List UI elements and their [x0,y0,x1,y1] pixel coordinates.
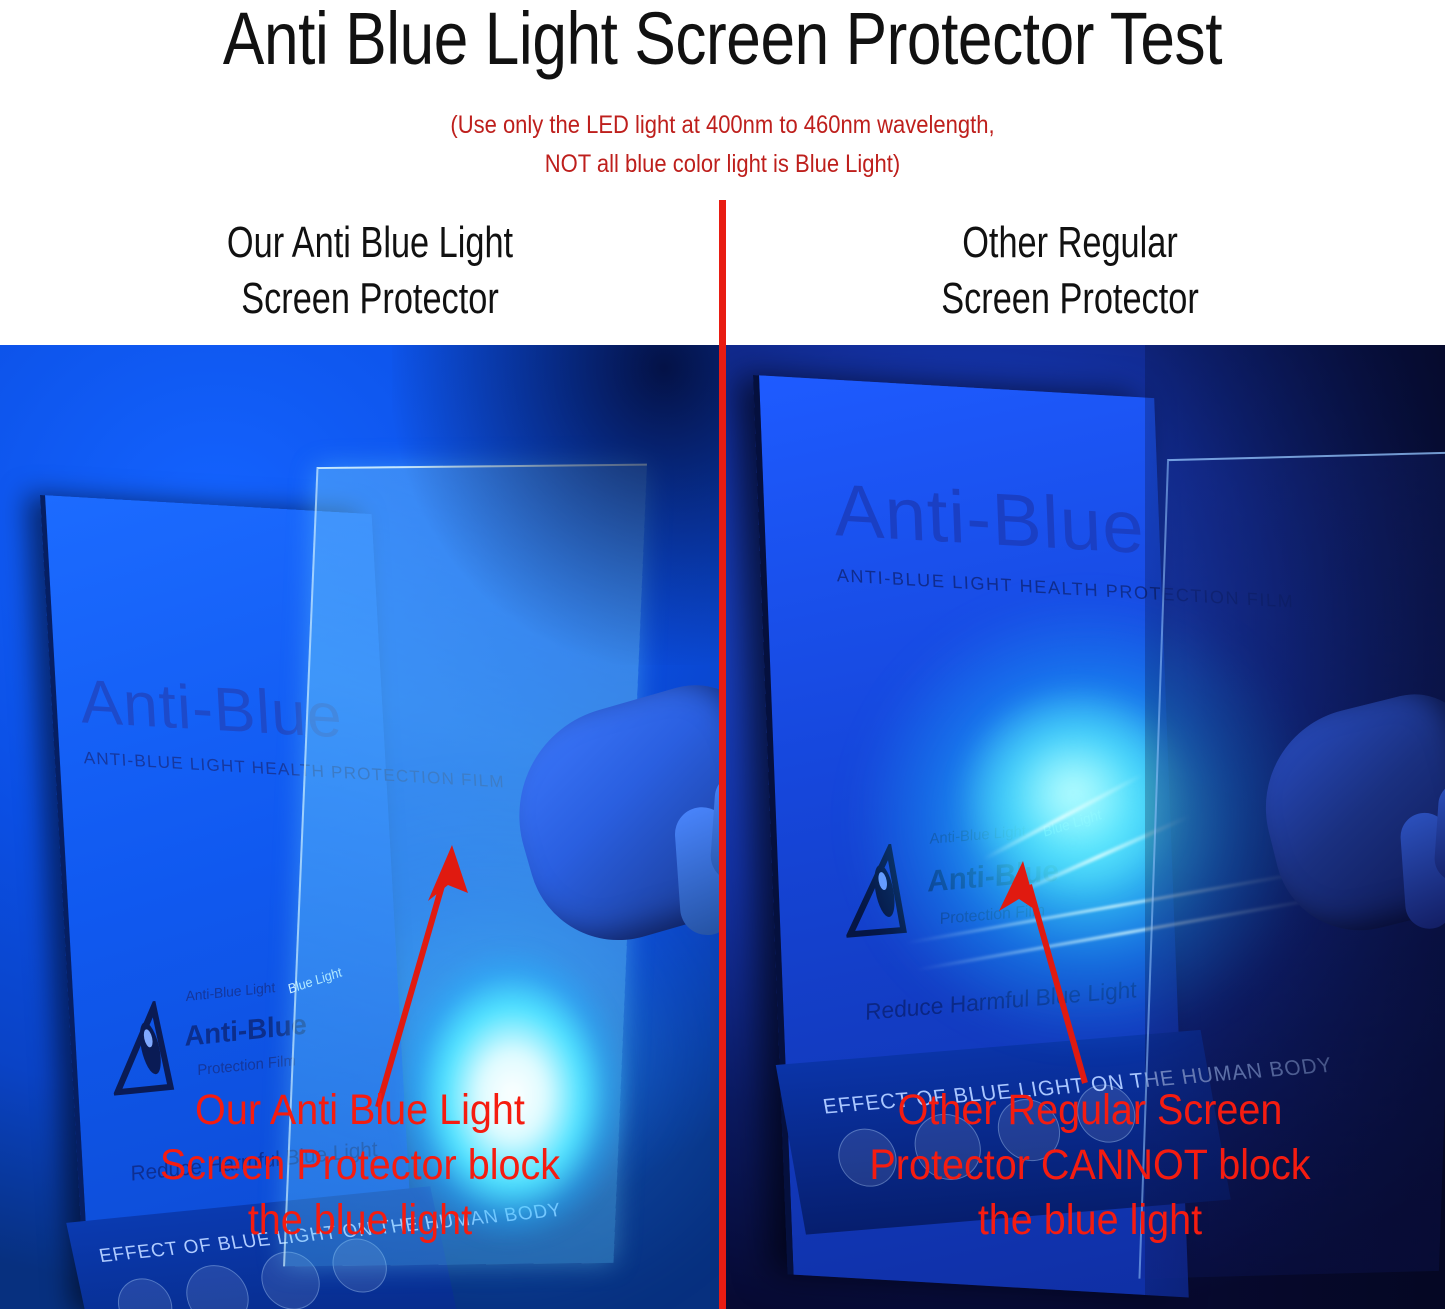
column-heading-left: Our Anti Blue Light Screen Protector [152,215,589,327]
column-heading-right: Other Regular Screen Protector [852,215,1289,327]
subtitle-line-2: NOT all blue color light is Blue Light) [87,145,1359,184]
caption-left-line-3: the blue light [66,1193,655,1248]
caption-left-line-2: Screen Protector block [66,1138,655,1193]
subtitle-line-1: (Use only the LED light at 400nm to 460n… [87,106,1359,145]
caption-right-line-1: Other Regular Screen [786,1083,1393,1138]
column-heading-left-line-1: Our Anti Blue Light [152,215,589,271]
caption-right-line-2: Protector CANNOT block [786,1138,1393,1193]
page-title: Anti Blue Light Screen Protector Test [116,0,1330,82]
column-heading-right-line-1: Other Regular [852,215,1289,271]
column-heading-left-line-2: Screen Protector [152,271,589,327]
caption-right-line-3: the blue light [786,1193,1393,1248]
subtitle-note: (Use only the LED light at 400nm to 460n… [87,106,1359,184]
caption-right: Other Regular Screen Protector CANNOT bl… [786,1083,1393,1248]
vertical-red-divider [719,200,726,1309]
caption-left: Our Anti Blue Light Screen Protector blo… [66,1083,655,1248]
caption-left-line-1: Our Anti Blue Light [66,1083,655,1138]
column-heading-right-line-2: Screen Protector [852,271,1289,327]
